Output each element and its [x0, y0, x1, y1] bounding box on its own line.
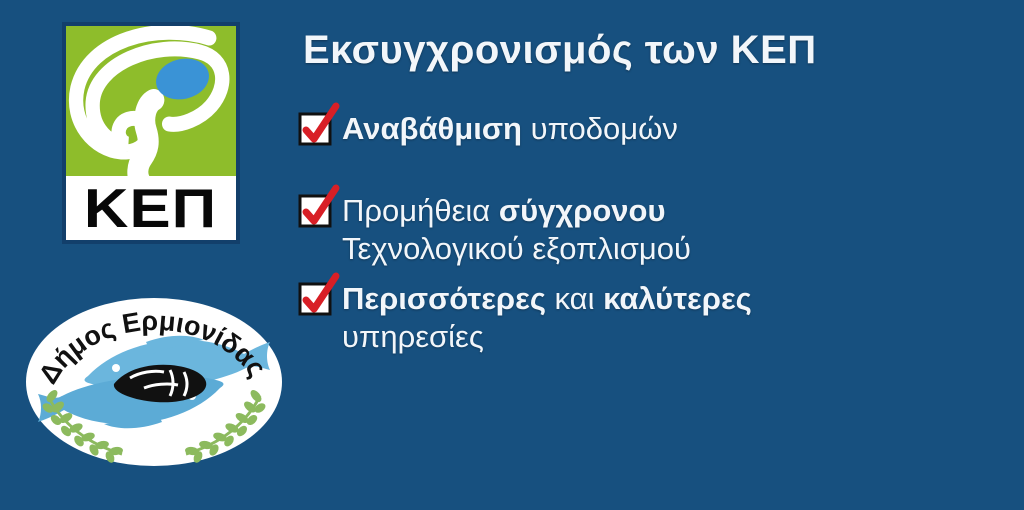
check-icon	[296, 274, 340, 318]
municipality-emblem-icon: Δήμος Ερμιονίδας	[18, 292, 290, 472]
bullet-1-bold: Αναβάθμιση	[342, 111, 522, 146]
kep-logo-nameplate: ΚΕΠ	[66, 176, 236, 240]
page-title: Εκσυγχρονισμός των ΚΕΠ	[303, 28, 817, 73]
kep-logo-emblem	[66, 26, 236, 176]
bullet-3-bold: Περισσότερες	[342, 281, 546, 316]
kep-swoosh-icon	[66, 26, 236, 176]
bullet-2-bold: σύγχρονου	[499, 193, 666, 228]
list-item: Περισσότερες και καλύτερες υπηρεσίες	[300, 280, 1000, 356]
list-item: Προμήθεια σύγχρονου Τεχνολογικού εξοπλισ…	[300, 192, 1000, 268]
bullet-2-line2: Τεχνολογικού εξοπλισμού	[342, 230, 691, 268]
checkbox-checked-3[interactable]	[300, 284, 330, 314]
bullet-1-light: υποδομών	[522, 111, 678, 146]
list-item: Αναβάθμιση υποδομών	[300, 110, 1000, 148]
check-icon	[296, 104, 340, 148]
bullet-3-mid: και	[546, 281, 603, 316]
list-item-text: Περισσότερες και καλύτερες υπηρεσίες	[342, 280, 752, 356]
bullet-3-line2: υπηρεσίες	[342, 318, 752, 356]
bullet-2-light: Προμήθεια	[342, 193, 499, 228]
list-item-text: Προμήθεια σύγχρονου Τεχνολογικού εξοπλισ…	[342, 192, 691, 268]
bullet-3-bold2: καλύτερες	[603, 281, 752, 316]
poster-canvas: ΚΕΠ	[0, 0, 1024, 510]
kep-logo: ΚΕΠ	[62, 22, 240, 244]
checkbox-checked-2[interactable]	[300, 196, 330, 226]
kep-logo-name: ΚΕΠ	[84, 181, 217, 236]
check-icon	[296, 186, 340, 230]
municipality-logo: Δήμος Ερμιονίδας	[18, 292, 290, 472]
benefits-list: Αναβάθμιση υποδομών Προμήθεια σύγχρονου …	[300, 110, 1000, 378]
checkbox-checked-1[interactable]	[300, 114, 330, 144]
list-item-text: Αναβάθμιση υποδομών	[342, 110, 678, 148]
